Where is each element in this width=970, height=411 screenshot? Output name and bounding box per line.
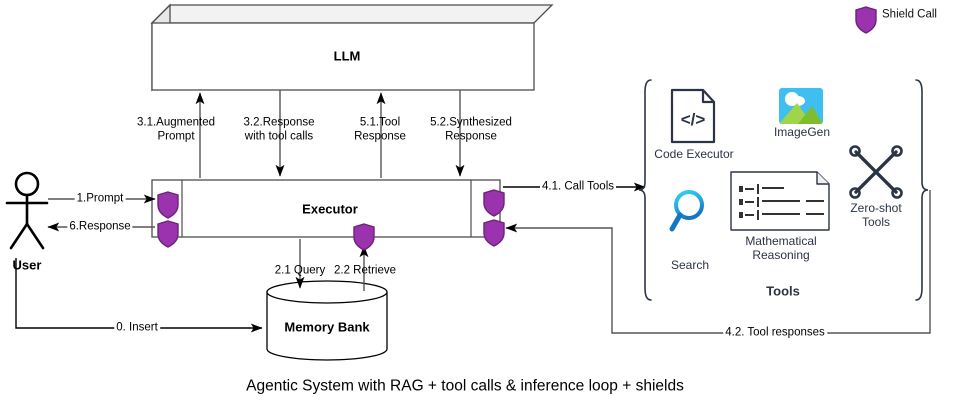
memory-bank-node <box>267 281 387 360</box>
shield-icon-user-out <box>158 221 178 247</box>
llm-front-face <box>152 23 534 90</box>
edge-tool-responses-line <box>506 190 930 333</box>
user-right-leg <box>27 224 43 248</box>
memory-bank-top <box>267 281 387 303</box>
llm-edges <box>200 90 460 178</box>
user-edges <box>48 199 155 227</box>
diagram-svg: </> <box>0 0 970 411</box>
user-head <box>16 173 38 195</box>
crossed-wrenches-icon <box>851 147 902 198</box>
edge-insert-line <box>16 258 262 328</box>
tools-brace-left <box>639 80 651 300</box>
shield-icon-legend <box>856 7 876 33</box>
code-document-icon: </> <box>672 90 714 142</box>
executor-node <box>152 180 500 237</box>
diagram-canvas: </> <box>0 0 970 411</box>
shield-icon-memory <box>354 224 374 250</box>
llm-top-face <box>152 5 552 23</box>
formula-document-icon <box>731 172 829 230</box>
user-figure <box>7 173 47 248</box>
tools-brace-right <box>916 80 928 300</box>
user-left-leg <box>11 224 27 248</box>
llm-node <box>152 5 552 90</box>
shield-icon-tools-in <box>484 220 504 246</box>
svg-text:</>: </> <box>681 110 706 129</box>
image-icon <box>779 88 823 124</box>
executor-box <box>152 180 500 237</box>
magnifier-icon <box>672 192 702 229</box>
